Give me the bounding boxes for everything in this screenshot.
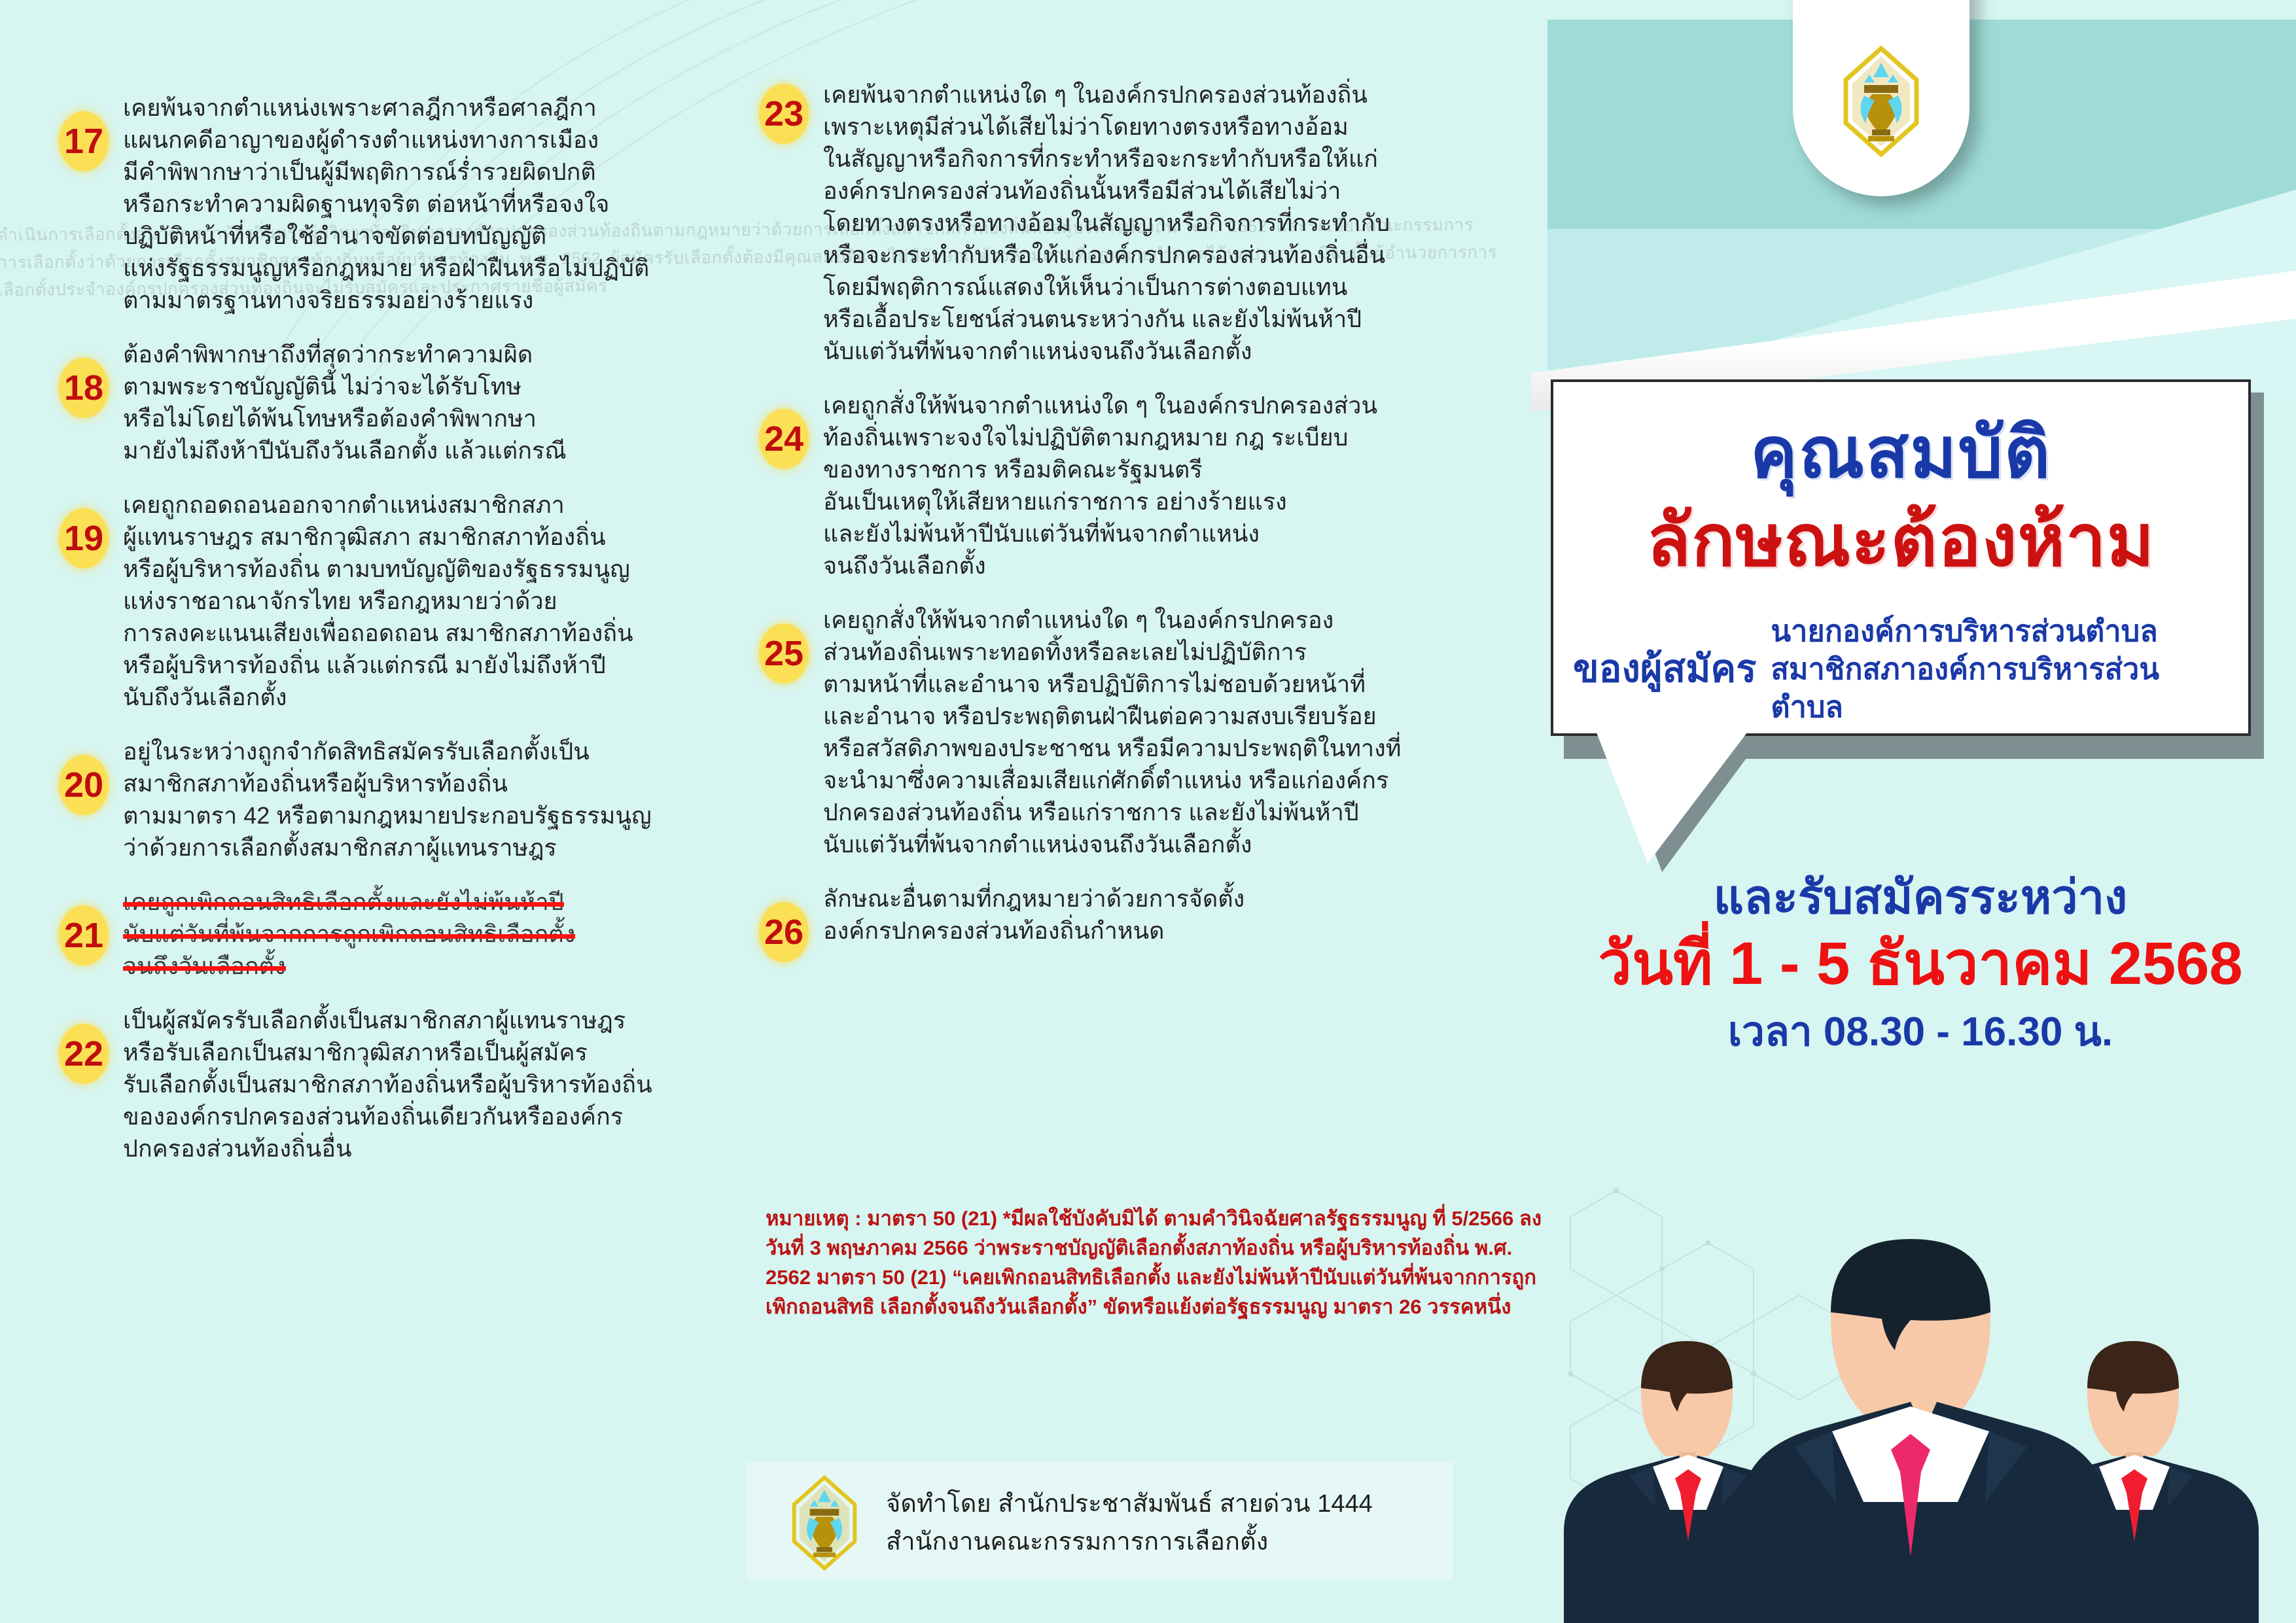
item-line: โดยทางตรงหรือทางอ้อมในสัญญาหรือกิจการที่… <box>823 207 1439 239</box>
item-line: หรือเอื้อประโยชน์ส่วนตนระหว่างกัน และยัง… <box>823 303 1439 335</box>
item-line: และอำนาจ หรือประพฤติตนฝ่าฝืนต่อความสงบเร… <box>823 700 1439 732</box>
item-line: จนถึงวันเลือกตั้ง <box>823 550 1439 582</box>
list-column-middle: 23 เคยพ้นจากตำแหน่งใด ๆ ในองค์กรปกครองส่… <box>759 79 1439 985</box>
item-line: รับเลือกตั้งเป็นสมาชิกสภาท้องถิ่นหรือผู้… <box>123 1068 720 1100</box>
item-line: สมาชิกสภาท้องถิ่นหรือผู้บริหารท้องถิ่น <box>123 767 720 799</box>
item-line: โดยมีพฤติการณ์แสดงให้เห็นว่าเป็นการต่างต… <box>823 271 1439 303</box>
list-item: 23 เคยพ้นจากตำแหน่งใด ๆ ในองค์กรปกครองส่… <box>759 79 1439 367</box>
list-column-left: 17 เคยพ้นจากตำแหน่งเพราะศาลฎีกาหรือศาลฎี… <box>59 92 720 1187</box>
footer-line-2: สำนักงานคณะกรรมการการเลือกตั้ง <box>886 1523 1373 1561</box>
item-line: ตามมาตรฐานทางจริยธรรมอย่างร้ายแรง <box>123 284 720 316</box>
headline-subtitle-row: ของผู้สมัคร นายกองค์การบริหารส่วนตำบล สม… <box>1553 612 2248 726</box>
list-item: 18 ต้องคำพิพากษาถึงที่สุดว่ากระทำความผิด… <box>59 338 720 466</box>
list-item: 19 เคยถูกถอดถอนออกจากตำแหน่งสมาชิกสภา ผู… <box>59 489 720 713</box>
item-line: ปกครองส่วนท้องถิ่น หรือแก่ราชการ และยังไ… <box>823 796 1439 828</box>
item-line: องค์กรปกครองส่วนท้องถิ่นนั้นหรือมีส่วนได… <box>823 175 1439 207</box>
item-line: หรือผู้บริหารท้องถิ่น แล้วแต่กรณี มายังไ… <box>123 649 720 681</box>
item-body: อยู่ในระหว่างถูกจำกัดสิทธิสมัครรับเลือกต… <box>123 735 720 864</box>
headline-subtitle-right-line-1: นายกองค์การบริหารส่วนตำบล <box>1771 612 2229 650</box>
item-body: เคยถูกสั่งให้พ้นจากตำแหน่งใด ๆ ในองค์กรป… <box>823 389 1439 582</box>
item-line: ตามพระราชบัญญัตินี้ ไม่ว่าจะได้รับโทษ <box>123 370 720 402</box>
item-line: ผู้แทนราษฎร สมาชิกวุฒิสภา สมาชิกสภาท้องถ… <box>123 521 720 553</box>
item-line: แห่งราชอาณาจักรไทย หรือกฎหมายว่าด้วย <box>123 585 720 617</box>
item-line: หรือจะกระทำกับหรือให้แก่องค์กรปกครองส่วน… <box>823 239 1439 271</box>
item-line: เคยถูกเพิกถอนสิทธิเลือกตั้งและยังไม่พ้นห… <box>123 886 564 918</box>
item-line: จนถึงวันเลือกตั้ง <box>123 950 286 982</box>
emblem-card <box>1793 0 1969 196</box>
item-line: การลงคะแนนเสียงเพื่อถอดถอน สมาชิกสภาท้อง… <box>123 617 720 649</box>
item-line: หรือกระทำความผิดฐานทุจริต ต่อหน้าที่หรือ… <box>123 188 720 220</box>
item-line: เป็นผู้สมัครรับเลือกตั้งเป็นสมาชิกสภาผู้… <box>123 1004 720 1036</box>
item-line: เคยพ้นจากตำแหน่งเพราะศาลฎีกาหรือศาลฎีกา <box>123 92 720 124</box>
item-line: มายังไม่ถึงห้าปีนับถึงวันเลือกตั้ง แล้วแ… <box>123 434 720 466</box>
item-number-badge: 20 <box>59 755 109 815</box>
item-line: และยังไม่พ้นห้าปีนับแต่วันที่พ้นจากตำแหน… <box>823 517 1439 550</box>
list-item: 20 อยู่ในระหว่างถูกจำกัดสิทธิสมัครรับเลื… <box>59 735 720 864</box>
item-line: เคยถูกถอดถอนออกจากตำแหน่งสมาชิกสภา <box>123 489 720 521</box>
item-line: ลักษณะอื่นตามที่กฎหมายว่าด้วยการจัดตั้ง <box>823 882 1439 915</box>
list-item: 24 เคยถูกสั่งให้พ้นจากตำแหน่งใด ๆ ในองค์… <box>759 389 1439 582</box>
item-line: ปกครองส่วนท้องถิ่นอื่น <box>123 1132 720 1164</box>
item-line: ตามหน้าที่และอำนาจ หรือปฏิบัติการไม่ชอบด… <box>823 668 1439 700</box>
item-body: เป็นผู้สมัครรับเลือกตั้งเป็นสมาชิกสภาผู้… <box>123 1004 720 1164</box>
item-number-badge: 26 <box>759 902 809 962</box>
list-item: 25 เคยถูกสั่งให้พ้นจากตำแหน่งใด ๆ ในองค์… <box>759 604 1439 860</box>
businessman-center <box>1740 1239 2107 1623</box>
headline-subtitle-right-line-2: สมาชิกสภาองค์การบริหารส่วนตำบล <box>1771 650 2229 726</box>
registration-date-block: และรับสมัครระหว่าง วันที่ 1 - 5 ธันวาคม … <box>1557 870 2284 1057</box>
item-line: หรือสวัสดิภาพของประชาชน หรือมีความประพฤต… <box>823 732 1439 764</box>
item-line: เพราะเหตุมีส่วนได้เสียไม่ว่าโดยทางตรงหรื… <box>823 111 1439 143</box>
item-line: มีคำพิพากษาว่าเป็นผู้มีพฤติการณ์ร่ำรวยผิ… <box>123 156 720 188</box>
item-line: นับแต่วันที่พ้นจากการถูกเพิกถอนสิทธิเลือ… <box>123 918 575 950</box>
footnote-segment-4: ขัดหรือแย้งต่อรัฐธรรมนูญ มาตรา 26 วรรคหน… <box>1097 1295 1511 1318</box>
item-body-strikethrough: เคยถูกเพิกถอนสิทธิเลือกตั้งและยังไม่พ้นห… <box>123 886 720 982</box>
headline-subtitle-right: นายกองค์การบริหารส่วนตำบล สมาชิกสภาองค์ก… <box>1771 612 2229 726</box>
item-number-badge: 18 <box>59 358 109 418</box>
item-body: ต้องคำพิพากษาถึงที่สุดว่ากระทำความผิด ตา… <box>123 338 720 466</box>
footnote-label: หมายเหตุ <box>766 1207 849 1230</box>
item-line: เคยถูกสั่งให้พ้นจากตำแหน่งใด ๆ ในองค์กรป… <box>823 389 1439 421</box>
item-line: นับแต่วันที่พ้นจากตำแหน่งจนถึงวันเลือกตั… <box>823 828 1439 860</box>
item-line: หรือผู้บริหารท้องถิ่น ตามบทบัญญัติของรัฐ… <box>123 553 720 585</box>
item-number-badge: 19 <box>59 508 109 568</box>
list-item: 17 เคยพ้นจากตำแหน่งเพราะศาลฎีกาหรือศาลฎี… <box>59 92 720 316</box>
item-line: หรือรับเลือกเป็นสมาชิกวุฒิสภาหรือเป็นผู้… <box>123 1036 720 1068</box>
item-line: อันเป็นเหตุให้เสียหายแก่ราชการ อย่างร้าย… <box>823 485 1439 517</box>
item-line: แผนกคดีอาญาของผู้ดำรงตำแหน่งทางการเมือง <box>123 124 720 156</box>
registration-dates: วันที่ 1 - 5 ธันวาคม 2568 <box>1557 929 2284 998</box>
list-item: 22 เป็นผู้สมัครรับเลือกตั้งเป็นสมาชิกสภา… <box>59 1004 720 1164</box>
footnote-quote-3: เลือกตั้งจนถึงวันเลือกตั้ง” <box>880 1295 1097 1318</box>
item-line: ต้องคำพิพากษาถึงที่สุดว่ากระทำความผิด <box>123 338 720 370</box>
item-number-badge: 21 <box>59 905 109 966</box>
item-line: จะนำมาซึ่งความเสื่อมเสียแก่ศักดิ์ตำแหน่ง… <box>823 764 1439 796</box>
item-line: ส่วนท้องถิ่นเพราะทอดทิ้งหรือละเลยไม่ปฏิบ… <box>823 636 1439 668</box>
item-line: นับแต่วันที่พ้นจากตำแหน่งจนถึงวันเลือกตั… <box>823 335 1439 367</box>
ect-emblem-footer-icon <box>785 1475 864 1571</box>
headline-card: คุณสมบัติ ลักษณะต้องห้าม ของผู้สมัคร นาย… <box>1551 379 2251 736</box>
headline-subtitle-left: ของผู้สมัคร <box>1573 648 1756 691</box>
item-line: นับถึงวันเลือกตั้ง <box>123 681 720 713</box>
footer-text-block: จัดทำโดย สำนักประชาสัมพันธ์ สายด่วน 1444… <box>886 1485 1373 1561</box>
registration-hours: เวลา 08.30 - 16.30 น. <box>1557 1007 2284 1057</box>
footer: จัดทำโดย สำนักประชาสัมพันธ์ สายด่วน 1444… <box>785 1475 1373 1571</box>
footer-line-1: จัดทำโดย สำนักประชาสัมพันธ์ สายด่วน 1444 <box>886 1485 1373 1523</box>
item-line: ของทางราชการ หรือมติคณะรัฐมนตรี <box>823 453 1439 485</box>
item-body: เคยถูกถอดถอนออกจากตำแหน่งสมาชิกสภา ผู้แท… <box>123 489 720 713</box>
item-line: ขององค์กรปกครองส่วนท้องถิ่นเดียวกันหรืออ… <box>123 1100 720 1132</box>
item-line: องค์กรปกครองส่วนท้องถิ่นกำหนด <box>823 915 1439 947</box>
list-item-revoked: 21 เคยถูกเพิกถอนสิทธิเลือกตั้งและยังไม่พ… <box>59 886 720 982</box>
item-number-badge: 25 <box>759 623 809 684</box>
footnote-segment-1: : มาตรา 50 (21) *มีผลใช้บังคับมิได้ ตามค… <box>849 1207 1427 1230</box>
item-line: ในสัญญาหรือกิจการที่กระทำหรือจะกระทำกับห… <box>823 143 1439 175</box>
headline-line-2: ลักษณะต้องห้าม <box>1553 502 2248 580</box>
item-number-badge: 23 <box>759 84 809 144</box>
businessmen-illustration <box>1525 1178 2296 1623</box>
ect-emblem-icon <box>1835 46 1927 157</box>
item-body: ลักษณะอื่นตามที่กฎหมายว่าด้วยการจัดตั้ง … <box>823 882 1439 947</box>
item-number-badge: 24 <box>759 409 809 469</box>
list-item: 26 ลักษณะอื่นตามที่กฎหมายว่าด้วยการจัดตั… <box>759 882 1439 962</box>
item-number-badge: 22 <box>59 1024 109 1084</box>
item-line: เคยถูกสั่งให้พ้นจากตำแหน่งใด ๆ ในองค์กรป… <box>823 604 1439 636</box>
item-line: ตามมาตรา 42 หรือตามกฎหมายประกอบรัฐธรรมนู… <box>123 799 720 831</box>
footnote: หมายเหตุ : มาตรา 50 (21) *มีผลใช้บังคับม… <box>766 1204 1544 1321</box>
item-line: ว่าด้วยการเลือกตั้งสมาชิกสภาผู้แทนราษฎร <box>123 831 720 864</box>
registration-label: และรับสมัครระหว่าง <box>1557 870 2284 925</box>
item-line: ท้องถิ่นเพราะจงใจไม่ปฏิบัติตามกฎหมาย กฎ … <box>823 421 1439 453</box>
item-line: เคยพ้นจากตำแหน่งใด ๆ ในองค์กรปกครองส่วนท… <box>823 79 1439 111</box>
item-number-badge: 17 <box>59 111 109 171</box>
item-line: หรือไม่โดยได้พ้นโทษหรือต้องคำพิพากษา <box>123 402 720 434</box>
item-body: เคยพ้นจากตำแหน่งเพราะศาลฎีกาหรือศาลฎีกา … <box>123 92 720 316</box>
item-body: เคยพ้นจากตำแหน่งใด ๆ ในองค์กรปกครองส่วนท… <box>823 79 1439 367</box>
footnote-quote-1: “เคยเพิกถอนสิทธิเลือกตั้ง <box>952 1266 1171 1289</box>
item-line: แห่งรัฐธรรมนูญหรือกฎหมาย หรือฝ่าฝืนหรือไ… <box>123 252 720 284</box>
item-body: เคยถูกสั่งให้พ้นจากตำแหน่งใด ๆ ในองค์กรป… <box>823 604 1439 860</box>
item-line: ปฏิบัติหน้าที่หรือใช้อำนาจขัดต่อบทบัญญัต… <box>123 220 720 252</box>
headline-line-1: คุณสมบัติ <box>1553 413 2248 492</box>
item-line: อยู่ในระหว่างถูกจำกัดสิทธิสมัครรับเลือกต… <box>123 735 720 767</box>
